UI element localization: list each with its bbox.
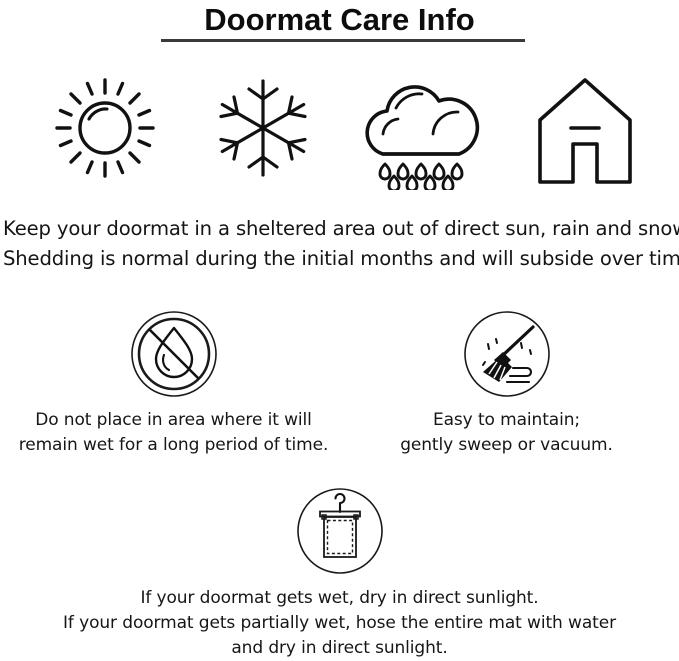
care-caption-no-standing-water: Do not place in area where it will remai… <box>4 408 343 458</box>
hang-to-dry-icon <box>296 487 384 575</box>
broom-icon <box>463 310 551 398</box>
doormat-care-info-page: Doormat Care Info <box>0 0 679 655</box>
weather-cell-house <box>500 72 670 192</box>
drying-caption-line-3: and dry in direct sunlight. <box>0 636 679 661</box>
drying-caption: If your doormat gets wet, dry in direct … <box>0 586 679 661</box>
care-caption-easy-to-maintain: Easy to maintain; gently sweep or vacuum… <box>337 408 676 458</box>
care-item-no-standing-water: Do not place in area where it will remai… <box>4 310 343 458</box>
weather-cell-rain-cloud <box>338 72 508 192</box>
care-caption-line-2: remain wet for a long period of time. <box>4 433 343 458</box>
care-instructions-row: Do not place in area where it will remai… <box>0 310 679 470</box>
house-icon <box>525 72 645 190</box>
snowflake-icon <box>207 72 319 184</box>
drying-instructions-block: If your doormat gets wet, dry in direct … <box>0 487 679 661</box>
title-underline-rule <box>161 39 525 42</box>
drying-caption-line-2: If your doormat gets partially wet, hose… <box>0 611 679 636</box>
intro-line-2: Shedding is normal during the initial mo… <box>3 244 679 274</box>
sun-icon <box>49 72 161 184</box>
weather-cell-sun <box>20 72 190 192</box>
page-title: Doormat Care Info <box>0 0 679 38</box>
page-title-block: Doormat Care Info <box>0 0 679 38</box>
weather-cell-snowflake <box>178 72 348 192</box>
care-item-easy-to-maintain: Easy to maintain; gently sweep or vacuum… <box>337 310 676 458</box>
rain-cloud-icon <box>359 72 487 190</box>
intro-line-1: Keep your doormat in a sheltered area ou… <box>3 214 679 244</box>
care-caption-line-1: Do not place in area where it will <box>4 408 343 433</box>
weather-icon-row <box>0 72 679 192</box>
intro-paragraph: Keep your doormat in a sheltered area ou… <box>3 214 679 274</box>
drying-caption-line-1: If your doormat gets wet, dry in direct … <box>0 586 679 611</box>
care-caption-line-2: gently sweep or vacuum. <box>337 433 676 458</box>
no-water-icon <box>130 310 218 398</box>
care-caption-line-1: Easy to maintain; <box>337 408 676 433</box>
